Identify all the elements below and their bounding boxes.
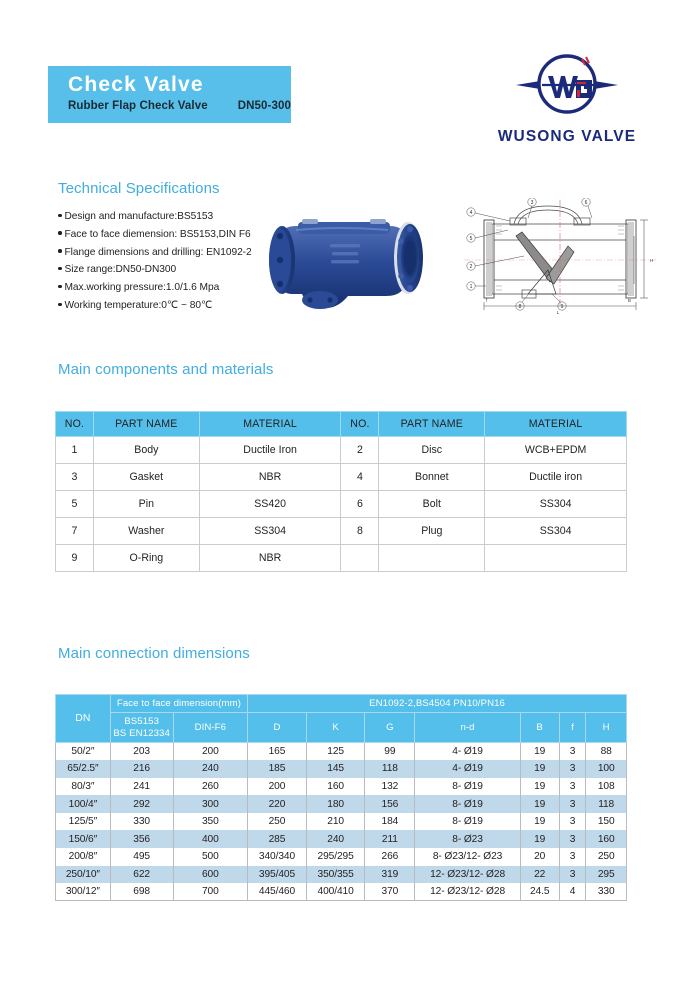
- cell-nd: 4- Ø19: [415, 760, 520, 778]
- specifications-heading: Technical Specifications: [58, 180, 220, 197]
- cell-bs: 622: [110, 866, 173, 884]
- cell-k: 350/355: [306, 866, 365, 884]
- company-name: WUSONG VALVE: [492, 128, 642, 146]
- cell-material: SS304: [485, 491, 627, 518]
- cell-h: 295: [586, 866, 627, 884]
- cell-b: 19: [520, 743, 559, 761]
- cell-din: 240: [173, 760, 248, 778]
- svg-text:8: 8: [519, 304, 522, 310]
- cell-material: Ductile iron: [485, 464, 627, 491]
- column-header-nd: n-d: [415, 713, 520, 743]
- cell-nd: 8- Ø23/12- Ø23: [415, 848, 520, 866]
- cell-din: 400: [173, 830, 248, 848]
- cell-part-name: [379, 545, 485, 572]
- spec-text: Max.working pressure:1.0/1.6 Mpa: [65, 282, 220, 293]
- cell-nd: 8- Ø19: [415, 778, 520, 796]
- cell-part-name: Pin: [93, 491, 199, 518]
- cell-part-name: Body: [93, 437, 199, 464]
- cell-din: 600: [173, 866, 248, 884]
- table-header-group-row: DN Face to face dimension(mm) EN1092-2,B…: [56, 695, 627, 713]
- table-header-sub-row: BS5153 BS EN12334 DIN-F6 D K G n-d B f H: [56, 713, 627, 743]
- spec-item: Face to face diemension: BS5153,DIN F6: [58, 226, 273, 244]
- cell-h: 108: [586, 778, 627, 796]
- cell-material: NBR: [199, 464, 341, 491]
- dimensions-table: DN Face to face dimension(mm) EN1092-2,B…: [55, 694, 627, 901]
- cell-b: 19: [520, 830, 559, 848]
- cell-d: 340/340: [248, 848, 307, 866]
- column-header-material-2: MATERIAL: [485, 412, 627, 437]
- cell-no: 5: [56, 491, 94, 518]
- spec-item: Flange dimensions and drilling: EN1092-2: [58, 244, 273, 262]
- cell-no: 1: [56, 437, 94, 464]
- cell-b: 20: [520, 848, 559, 866]
- cell-b: 19: [520, 795, 559, 813]
- cell-din: 260: [173, 778, 248, 796]
- cell-bs: 216: [110, 760, 173, 778]
- cell-h: 88: [586, 743, 627, 761]
- spec-item: Design and manufacture:BS5153: [58, 208, 273, 226]
- cell-material: [485, 545, 627, 572]
- cell-dn: 250/10″: [56, 866, 111, 884]
- cell-no: 9: [56, 545, 94, 572]
- company-logo: WUSONG VALVE: [492, 46, 642, 146]
- cell-din: 200: [173, 743, 248, 761]
- cell-f: 3: [559, 866, 586, 884]
- spec-text: Flange dimensions and drilling: EN1092-2: [65, 247, 252, 258]
- cell-bs: 698: [110, 883, 173, 901]
- technical-drawing: 4 3 6 5 2 1 8 9 L H f B: [462, 198, 658, 316]
- cell-k: 210: [306, 813, 365, 831]
- table-row: 125/5″ 330 350 250 210 184 8- Ø19 19 3 1…: [56, 813, 627, 831]
- cell-k: 145: [306, 760, 365, 778]
- wusong-valve-logo-icon: [514, 46, 620, 124]
- bullet-icon: [58, 285, 62, 289]
- column-header-no-1: NO.: [56, 412, 94, 437]
- column-group-face-to-face: Face to face dimension(mm): [110, 695, 247, 713]
- cell-f: 3: [559, 778, 586, 796]
- column-header-no-2: NO.: [341, 412, 379, 437]
- spec-text: Face to face diemension: BS5153,DIN F6: [65, 229, 251, 240]
- cell-bs: 292: [110, 795, 173, 813]
- cell-material: Ductile Iron: [199, 437, 341, 464]
- specifications-list: Design and manufacture:BS5153 Face to fa…: [58, 208, 273, 315]
- bs-line2: BS EN12334: [112, 728, 172, 740]
- table-row: 7 Washer SS304 8 Plug SS304: [56, 518, 627, 545]
- materials-table: NO. PART NAME MATERIAL NO. PART NAME MAT…: [55, 411, 627, 572]
- cell-dn: 80/3″: [56, 778, 111, 796]
- cell-no: 8: [341, 518, 379, 545]
- cell-h: 160: [586, 830, 627, 848]
- cell-g: 132: [365, 778, 415, 796]
- cell-material: SS420: [199, 491, 341, 518]
- cell-bs: 495: [110, 848, 173, 866]
- column-header-bs5153: BS5153 BS EN12334: [110, 713, 173, 743]
- cell-no: 7: [56, 518, 94, 545]
- cell-no: [341, 545, 379, 572]
- table-row: 50/2″ 203 200 165 125 99 4- Ø19 19 3 88: [56, 743, 627, 761]
- cell-d: 165: [248, 743, 307, 761]
- page-title: Check Valve: [68, 73, 291, 97]
- cell-material: WCB+EPDM: [485, 437, 627, 464]
- cell-g: 319: [365, 866, 415, 884]
- table-row: 150/6″ 356 400 285 240 211 8- Ø23 19 3 1…: [56, 830, 627, 848]
- table-row: 9 O-Ring NBR: [56, 545, 627, 572]
- spec-item: Working temperature:0℃ ~ 80℃: [58, 297, 273, 315]
- table-row: 300/12″ 698 700 445/460 400/410 370 12- …: [56, 883, 627, 901]
- table-row: 3 Gasket NBR 4 Bonnet Ductile iron: [56, 464, 627, 491]
- cell-h: 100: [586, 760, 627, 778]
- cell-din: 500: [173, 848, 248, 866]
- cell-no: 2: [341, 437, 379, 464]
- cell-h: 118: [586, 795, 627, 813]
- cell-k: 240: [306, 830, 365, 848]
- cell-b: 19: [520, 813, 559, 831]
- cell-no: 6: [341, 491, 379, 518]
- svg-text:B: B: [628, 298, 631, 303]
- materials-heading: Main components and materials: [58, 361, 274, 378]
- cell-b: 24.5: [520, 883, 559, 901]
- column-header-d: D: [248, 713, 307, 743]
- cell-g: 99: [365, 743, 415, 761]
- cell-b: 19: [520, 760, 559, 778]
- cell-nd: 8- Ø19: [415, 795, 520, 813]
- cell-g: 184: [365, 813, 415, 831]
- column-header-f: f: [559, 713, 586, 743]
- column-header-din-f6: DIN-F6: [173, 713, 248, 743]
- column-group-flange-standard: EN1092-2,BS4504 PN10/PN16: [248, 695, 627, 713]
- cell-nd: 8- Ø19: [415, 813, 520, 831]
- cell-part-name: Bolt: [379, 491, 485, 518]
- cell-k: 400/410: [306, 883, 365, 901]
- svg-text:1: 1: [470, 284, 473, 290]
- cell-part-name: Plug: [379, 518, 485, 545]
- cell-bs: 241: [110, 778, 173, 796]
- column-header-h: H: [586, 713, 627, 743]
- cell-dn: 300/12″: [56, 883, 111, 901]
- bullet-icon: [58, 231, 62, 235]
- cell-bs: 330: [110, 813, 173, 831]
- column-header-part-name-1: PART NAME: [93, 412, 199, 437]
- product-photo: [252, 196, 457, 318]
- cell-nd: 12- Ø23/12- Ø28: [415, 866, 520, 884]
- size-range-label: DN50-300: [238, 100, 291, 112]
- cell-f: 3: [559, 830, 586, 848]
- table-row: 5 Pin SS420 6 Bolt SS304: [56, 491, 627, 518]
- cell-d: 185: [248, 760, 307, 778]
- bullet-icon: [58, 249, 62, 253]
- dimensions-heading: Main connection dimensions: [58, 645, 250, 662]
- cell-h: 330: [586, 883, 627, 901]
- bullet-icon: [58, 267, 62, 271]
- cell-dn: 150/6″: [56, 830, 111, 848]
- cell-bs: 356: [110, 830, 173, 848]
- cell-g: 118: [365, 760, 415, 778]
- product-type-label: Rubber Flap Check Valve: [68, 100, 208, 112]
- cell-f: 3: [559, 848, 586, 866]
- cell-d: 250: [248, 813, 307, 831]
- cell-part-name: O-Ring: [93, 545, 199, 572]
- cell-k: 160: [306, 778, 365, 796]
- cell-nd: 8- Ø23: [415, 830, 520, 848]
- svg-text:L: L: [557, 310, 560, 315]
- table-row: 80/3″ 241 260 200 160 132 8- Ø19 19 3 10…: [56, 778, 627, 796]
- cell-d: 220: [248, 795, 307, 813]
- svg-text:2: 2: [470, 264, 473, 270]
- cell-part-name: Washer: [93, 518, 199, 545]
- cell-material: SS304: [199, 518, 341, 545]
- svg-text:3: 3: [531, 200, 534, 206]
- cell-k: 180: [306, 795, 365, 813]
- cell-bs: 203: [110, 743, 173, 761]
- column-header-k: K: [306, 713, 365, 743]
- cell-dn: 65/2.5″: [56, 760, 111, 778]
- svg-text:5: 5: [470, 236, 473, 242]
- cell-d: 285: [248, 830, 307, 848]
- cell-dn: 100/4″: [56, 795, 111, 813]
- table-row: 1 Body Ductile Iron 2 Disc WCB+EPDM: [56, 437, 627, 464]
- spec-item: Size range:DN50-DN300: [58, 261, 273, 279]
- svg-text:9: 9: [561, 304, 564, 310]
- title-banner: Check Valve Rubber Flap Check ValveDN50-…: [48, 66, 291, 123]
- table-row: 100/4″ 292 300 220 180 156 8- Ø19 19 3 1…: [56, 795, 627, 813]
- bullet-icon: [58, 303, 62, 307]
- spec-item: Max.working pressure:1.0/1.6 Mpa: [58, 279, 273, 297]
- spec-text: Working temperature:0℃ ~ 80℃: [65, 300, 213, 311]
- table-row: 200/8″ 495 500 340/340 295/295 266 8- Ø2…: [56, 848, 627, 866]
- svg-text:H: H: [650, 258, 653, 263]
- cell-d: 200: [248, 778, 307, 796]
- cell-b: 19: [520, 778, 559, 796]
- cell-f: 3: [559, 813, 586, 831]
- cell-g: 370: [365, 883, 415, 901]
- spec-text: Size range:DN50-DN300: [65, 264, 177, 275]
- page-subtitle: Rubber Flap Check ValveDN50-300: [68, 99, 291, 114]
- page-header: Check Valve Rubber Flap Check ValveDN50-…: [0, 0, 700, 170]
- column-header-material-1: MATERIAL: [199, 412, 341, 437]
- cell-g: 156: [365, 795, 415, 813]
- bs-line1: BS5153: [112, 716, 172, 728]
- cell-k: 125: [306, 743, 365, 761]
- cell-b: 22: [520, 866, 559, 884]
- column-header-part-name-2: PART NAME: [379, 412, 485, 437]
- cell-h: 150: [586, 813, 627, 831]
- cell-no: 4: [341, 464, 379, 491]
- cell-material: NBR: [199, 545, 341, 572]
- cell-din: 350: [173, 813, 248, 831]
- cell-din: 700: [173, 883, 248, 901]
- cell-part-name: Gasket: [93, 464, 199, 491]
- column-header-b: B: [520, 713, 559, 743]
- cell-no: 3: [56, 464, 94, 491]
- cell-nd: 4- Ø19: [415, 743, 520, 761]
- cell-d: 395/405: [248, 866, 307, 884]
- cell-g: 211: [365, 830, 415, 848]
- cell-d: 445/460: [248, 883, 307, 901]
- cell-part-name: Bonnet: [379, 464, 485, 491]
- cell-k: 295/295: [306, 848, 365, 866]
- cell-dn: 50/2″: [56, 743, 111, 761]
- column-header-g: G: [365, 713, 415, 743]
- cell-nd: 12- Ø23/12- Ø28: [415, 883, 520, 901]
- bullet-icon: [58, 214, 62, 218]
- table-row: 250/10″ 622 600 395/405 350/355 319 12- …: [56, 866, 627, 884]
- column-header-dn: DN: [56, 695, 111, 743]
- spec-text: Design and manufacture:BS5153: [65, 211, 214, 222]
- table-header-row: NO. PART NAME MATERIAL NO. PART NAME MAT…: [56, 412, 627, 437]
- cell-dn: 200/8″: [56, 848, 111, 866]
- cell-h: 250: [586, 848, 627, 866]
- cell-g: 266: [365, 848, 415, 866]
- cell-part-name: Disc: [379, 437, 485, 464]
- cell-f: 3: [559, 743, 586, 761]
- cell-f: 3: [559, 795, 586, 813]
- cell-f: 4: [559, 883, 586, 901]
- cell-din: 300: [173, 795, 248, 813]
- svg-text:6: 6: [585, 200, 588, 206]
- cell-material: SS304: [485, 518, 627, 545]
- svg-text:f: f: [486, 298, 488, 303]
- cell-f: 3: [559, 760, 586, 778]
- svg-text:4: 4: [470, 210, 473, 216]
- cell-dn: 125/5″: [56, 813, 111, 831]
- table-row: 65/2.5″ 216 240 185 145 118 4- Ø19 19 3 …: [56, 760, 627, 778]
